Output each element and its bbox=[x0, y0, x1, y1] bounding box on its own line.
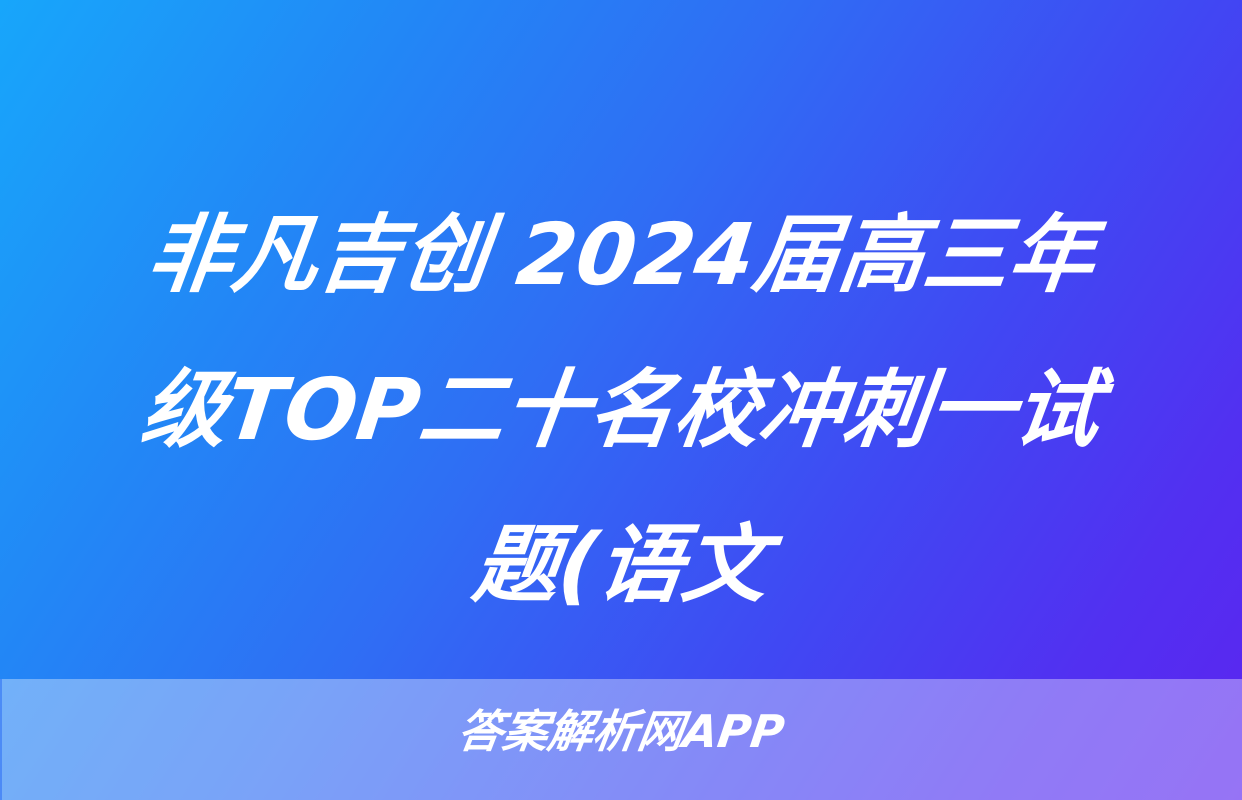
title-line-1: 非凡吉创 2024届高三年 bbox=[138, 178, 1103, 333]
exam-cover-card: 非凡吉创 2024届高三年 级TOP二十名校冲刺一试 题(语文 答案解析网APP bbox=[0, 0, 1242, 800]
page-title: 非凡吉创 2024届高三年 级TOP二十名校冲刺一试 题(语文 bbox=[0, 178, 1242, 628]
title-line-3: 题(语文 bbox=[465, 488, 778, 643]
title-line-2: 级TOP二十名校冲刺一试 bbox=[133, 333, 1110, 488]
watermark-label: 答案解析网APP bbox=[0, 706, 1242, 758]
